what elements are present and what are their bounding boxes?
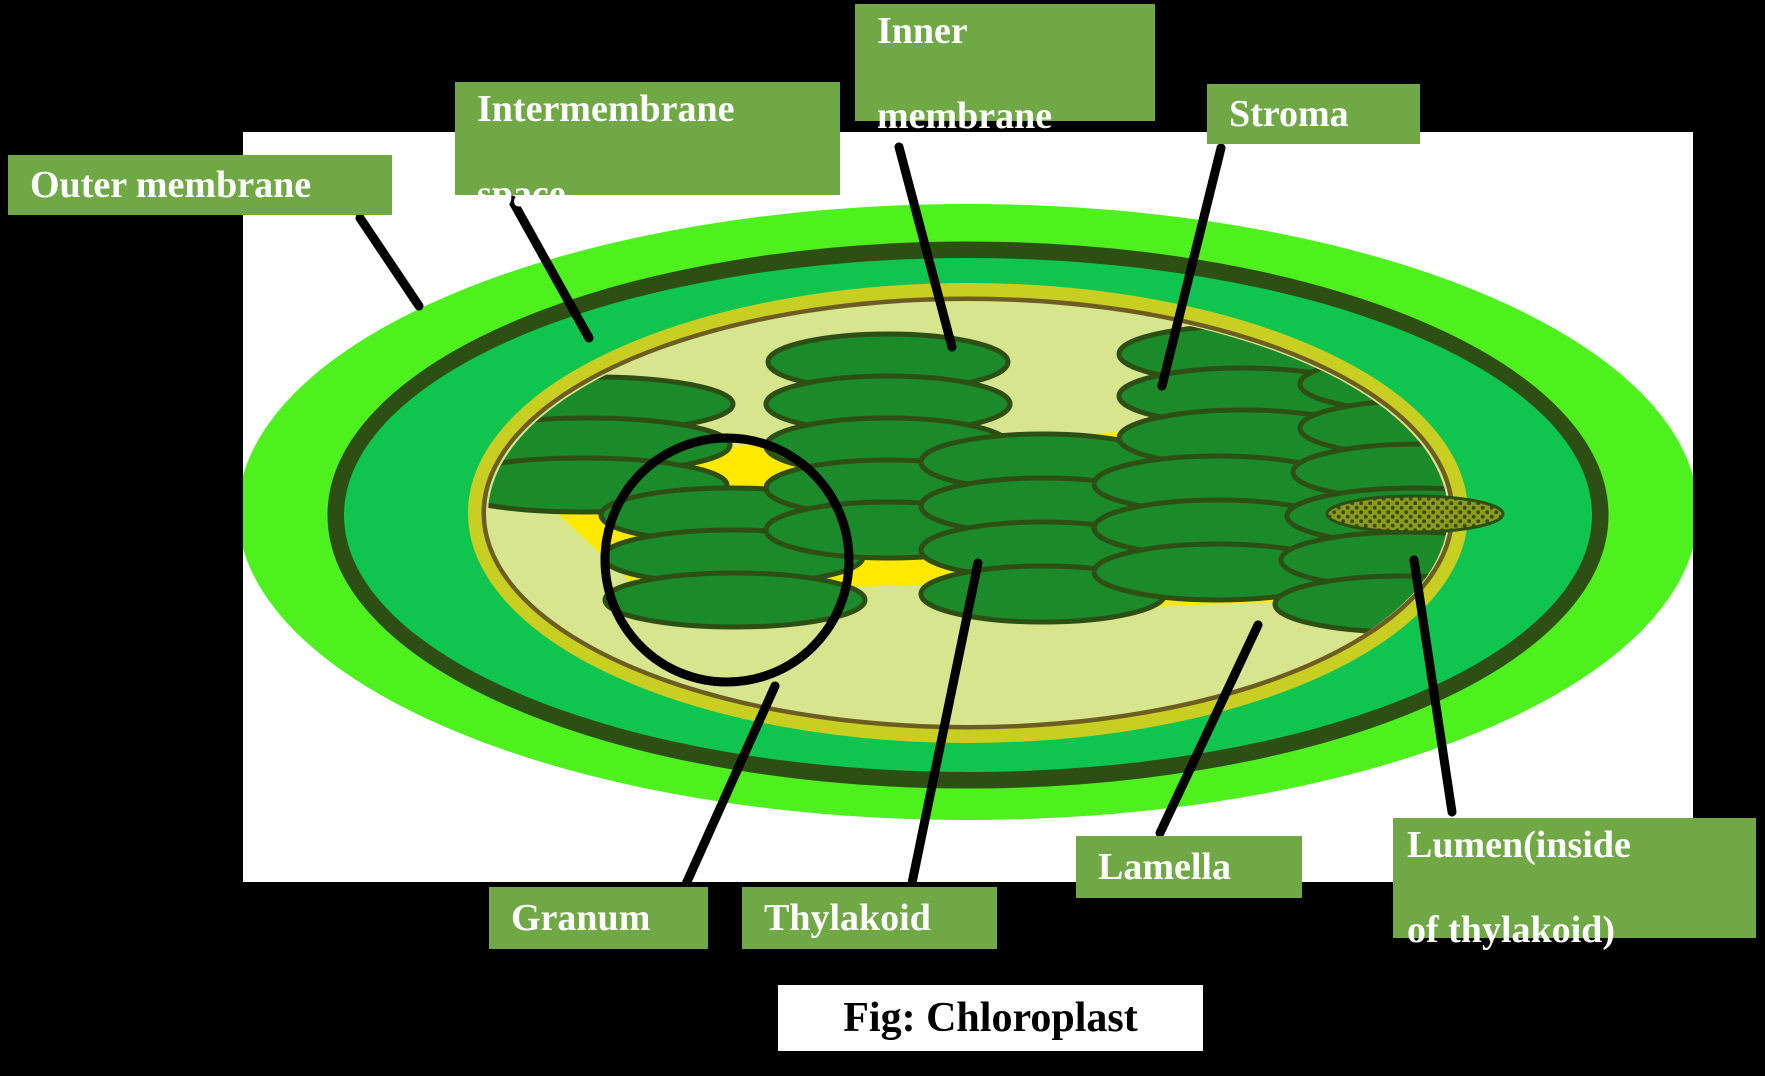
figure-caption: Fig: Chloroplast: [778, 985, 1203, 1051]
label-lamella-text: Lamella: [1098, 846, 1302, 889]
chloroplast-illustration: [243, 132, 1693, 882]
label-outer-membrane[interactable]: Outer membrane: [8, 155, 392, 215]
label-stroma[interactable]: Stroma: [1207, 84, 1420, 144]
label-inner-membrane[interactable]: Innermembrane: [855, 4, 1155, 121]
figure-caption-text: Fig: Chloroplast: [843, 994, 1137, 1042]
lumen-shape: [1327, 496, 1503, 532]
label-intermembrane-space[interactable]: Intermembranespace: [455, 82, 840, 195]
label-lumen-text: Lumen(insideof thylakoid): [1407, 824, 1756, 952]
label-lamella[interactable]: Lamella: [1076, 836, 1302, 898]
label-thylakoid[interactable]: Thylakoid: [742, 887, 997, 949]
label-stroma-text: Stroma: [1229, 93, 1420, 136]
thylakoid-disc: [605, 573, 865, 627]
label-outer-membrane-text: Outer membrane: [30, 164, 392, 207]
label-lumen[interactable]: Lumen(insideof thylakoid): [1393, 818, 1756, 938]
label-granum-text: Granum: [511, 897, 708, 940]
label-thylakoid-text: Thylakoid: [764, 897, 997, 940]
figure-canvas: Outer membrane Intermembranespace Innerm…: [0, 0, 1765, 1076]
label-granum[interactable]: Granum: [489, 887, 708, 949]
label-inner-membrane-text: Innermembrane: [877, 10, 1155, 138]
label-intermembrane-space-text: Intermembranespace: [477, 88, 840, 216]
